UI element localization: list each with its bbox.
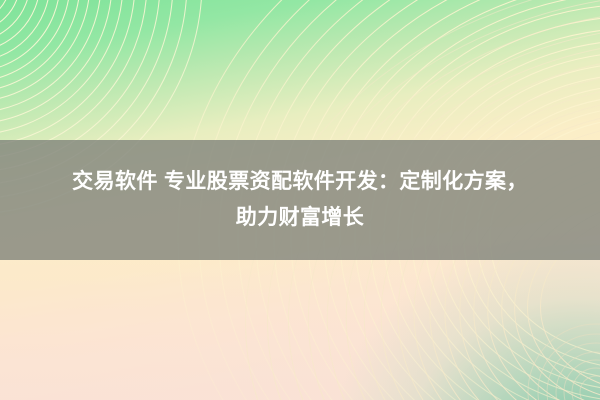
background-corner-green-glow — [340, 240, 600, 400]
promo-banner: 交易软件 专业股票资配软件开发：定制化方案， 助力财富增长 — [0, 0, 600, 400]
title-overlay-band: 交易软件 专业股票资配软件开发：定制化方案， 助力财富增长 — [0, 140, 600, 260]
banner-title-line-2: 助力财富增长 — [236, 200, 364, 236]
banner-title-line-1: 交易软件 专业股票资配软件开发：定制化方案， — [72, 164, 528, 200]
